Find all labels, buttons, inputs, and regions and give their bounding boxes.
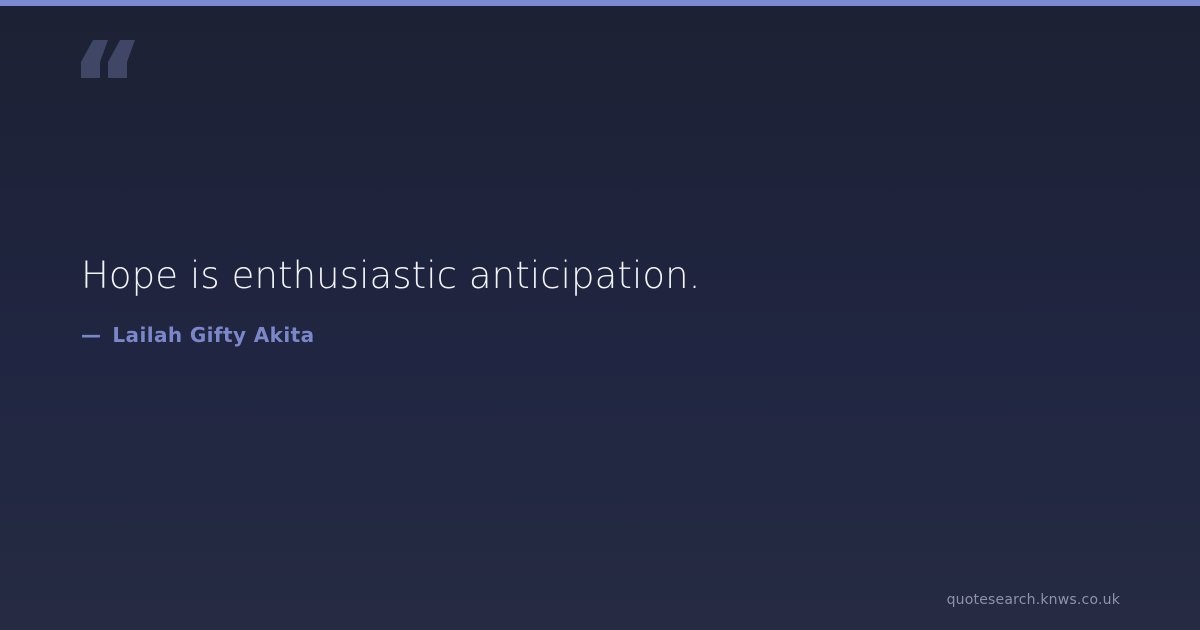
top-accent-bar bbox=[0, 0, 1200, 6]
quote-content: Hope is enthusiastic anticipation. — Lai… bbox=[81, 252, 1121, 347]
site-footer-url: quotesearch.knws.co.uk bbox=[947, 592, 1120, 608]
quote-attribution: — Lailah Gifty Akita bbox=[81, 323, 1121, 347]
attribution-author: Lailah Gifty Akita bbox=[112, 323, 314, 347]
quote-card: Hope is enthusiastic anticipation. — Lai… bbox=[0, 0, 1200, 630]
double-quote-open-icon bbox=[78, 22, 148, 86]
attribution-dash: — bbox=[81, 323, 101, 347]
quote-text: Hope is enthusiastic anticipation. bbox=[81, 252, 1121, 301]
